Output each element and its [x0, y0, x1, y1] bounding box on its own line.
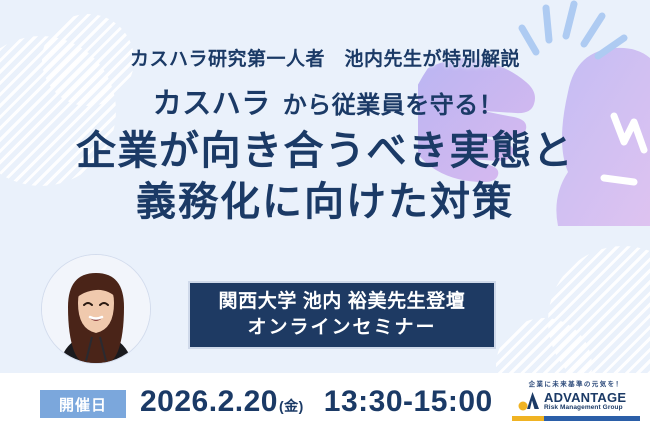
subline: カスハラから従業員を守る！ [0, 80, 650, 124]
logo-color-bar [512, 416, 640, 421]
speaker-info-box: 関西大学 池内 裕美先生登壇 オンラインセミナー [188, 281, 496, 349]
title-line-1: 企業が向き合うべき実態と [0, 126, 650, 177]
event-datetime: 2026.2.20 (金) 13:30-15:00 [140, 385, 493, 419]
seminar-format-line: オンラインセミナー [247, 315, 436, 341]
event-date-badge: 開催日 [40, 390, 126, 418]
speaker-name-line: 関西大学 池内 裕美先生登壇 [219, 289, 466, 315]
advantage-logo: 企業に未来基準の元気を！ ADVANTAGE Risk Management G… [512, 378, 640, 426]
subline-rest: から従業員を守る！ [283, 92, 504, 119]
highlight-word: カスハラ [147, 80, 277, 124]
event-time-value: 13:30-15:00 [324, 385, 493, 419]
webinar-banner: カスハラ研究第一人者 池内先生が特別解説 カスハラから従業員を守る！ 企業が向き… [0, 0, 650, 434]
logo-sub: Risk Management Group [544, 405, 626, 412]
page-title: 企業が向き合うべき実態と 義務化に向けた対策 [0, 126, 650, 228]
speaker-photo [41, 254, 151, 364]
kicker-text: カスハラ研究第一人者 池内先生が特別解説 [0, 44, 650, 71]
event-day-of-week: (金) [279, 396, 304, 416]
logo-bar-blue [544, 416, 640, 421]
event-date-value: 2026.2.20 [140, 385, 278, 419]
logo-tagline: 企業に未来基準の元気を！ [512, 378, 640, 388]
title-line-2: 義務化に向けた対策 [0, 177, 650, 228]
logo-name: ADVANTAGE [544, 391, 626, 404]
speaker-portrait-image [42, 255, 150, 363]
logo-bar-yellow [512, 416, 544, 421]
advantage-mark-icon [518, 390, 540, 412]
